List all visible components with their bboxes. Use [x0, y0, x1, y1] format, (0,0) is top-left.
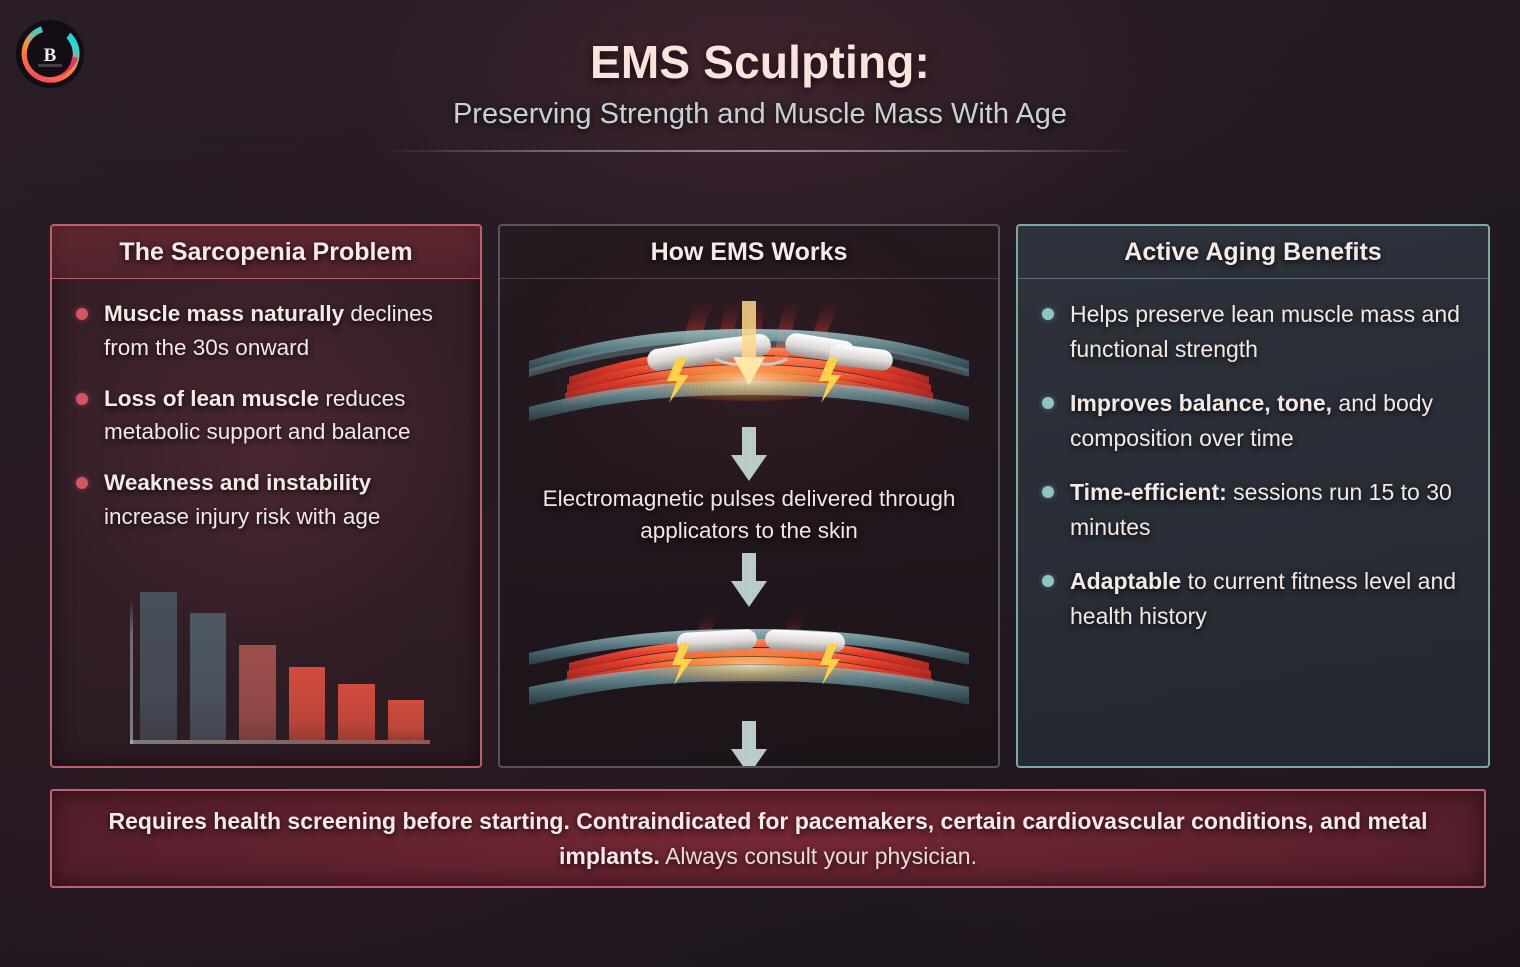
- bullet-strong: Adaptable: [1070, 568, 1181, 594]
- chart-bar: [140, 592, 177, 740]
- panel-how-ems-works: How EMS Works: [498, 224, 1000, 768]
- panel-sarcopenia-problem: The Sarcopenia Problem Muscle mass natur…: [50, 224, 482, 768]
- arrow-down-icon: [729, 427, 769, 483]
- chart-bar: [239, 645, 276, 740]
- bullet-dot-icon: [1042, 575, 1054, 587]
- disclaimer-text: Requires health screening before startin…: [80, 804, 1456, 874]
- panel-row: The Sarcopenia Problem Muscle mass natur…: [50, 224, 1490, 768]
- bullet-strong: Weakness and instability: [104, 470, 371, 495]
- chart-bar: [289, 667, 326, 740]
- list-item: Improves balance, tone, and body composi…: [1040, 386, 1466, 455]
- chart-bar: [388, 700, 425, 740]
- list-item: Muscle mass naturally declines from the …: [74, 297, 458, 365]
- page-title: EMS Sculpting:: [0, 38, 1520, 86]
- panel-header-how: How EMS Works: [500, 226, 998, 279]
- panel-active-aging-benefits: Active Aging Benefits Helps preserve lea…: [1016, 224, 1490, 768]
- bullet-dot-icon: [1042, 486, 1054, 498]
- bullet-dot-icon: [1042, 308, 1054, 320]
- list-item: Adaptable to current fitness level and h…: [1040, 564, 1466, 633]
- panel-header-problem: The Sarcopenia Problem: [52, 226, 480, 279]
- panel-title-benefits: Active Aging Benefits: [1028, 238, 1478, 267]
- bullet-strong: Helps preserve lean muscle mass: [1070, 301, 1415, 327]
- chart-bars: [140, 592, 424, 740]
- list-item: Weakness and instability increase injury…: [74, 466, 458, 534]
- bullet-dot-icon: [76, 308, 88, 320]
- chart-bar: [190, 613, 227, 740]
- chart-bar: [338, 684, 375, 740]
- bullet-strong: Time-efficient:: [1070, 479, 1227, 505]
- chart-x-axis: [130, 740, 430, 744]
- panel-title-problem: The Sarcopenia Problem: [62, 238, 470, 267]
- ems-flow-diagram: Electromagnetic pulses delivered through…: [522, 297, 976, 768]
- panel-body-problem: Muscle mass naturally declines from the …: [52, 279, 480, 766]
- bullet-strong: Improves balance, tone,: [1070, 390, 1332, 416]
- bullet-dot-icon: [76, 393, 88, 405]
- panel-title-how: How EMS Works: [510, 238, 988, 267]
- arrow-down-icon: [729, 721, 769, 768]
- panel-body-how: Electromagnetic pulses delivered through…: [500, 279, 998, 768]
- muscle-fibers-with-applicators-icon: [529, 299, 969, 427]
- bullet-strong: Muscle mass naturally: [104, 301, 344, 326]
- bullet-dot-icon: [1042, 397, 1054, 409]
- disclaimer-soft: Always consult your physician.: [660, 843, 977, 869]
- bullet-rest: increase injury risk with age: [104, 504, 380, 529]
- muscle-fibers-contracting-icon: [529, 609, 969, 721]
- infographic-canvas: B EMS Sculpting: Preserving Strength and…: [0, 0, 1520, 967]
- chart-y-axis: [130, 599, 133, 744]
- list-item: Helps preserve lean muscle mass and func…: [1040, 297, 1466, 366]
- panel-header-benefits: Active Aging Benefits: [1018, 226, 1488, 279]
- bullet-strong: Loss of lean muscle: [104, 386, 319, 411]
- list-item: Time-efficient: sessions run 15 to 30 mi…: [1040, 475, 1466, 544]
- header: EMS Sculpting: Preserving Strength and M…: [0, 38, 1520, 131]
- header-divider: [382, 150, 1138, 152]
- list-item: Loss of lean muscle reduces metabolic su…: [74, 382, 458, 450]
- flow-step-1-caption: Electromagnetic pulses delivered through…: [532, 483, 966, 547]
- bullet-dot-icon: [76, 477, 88, 489]
- muscle-decline-bar-chart: [130, 584, 430, 744]
- panel-body-benefits: Helps preserve lean muscle mass and func…: [1018, 279, 1488, 766]
- page-subtitle: Preserving Strength and Muscle Mass With…: [0, 98, 1520, 131]
- disclaimer-banner: Requires health screening before startin…: [50, 789, 1486, 888]
- arrow-down-icon: [729, 553, 769, 609]
- benefits-bullet-list: Helps preserve lean muscle mass and func…: [1040, 297, 1466, 633]
- problem-bullet-list: Muscle mass naturally declines from the …: [74, 297, 458, 534]
